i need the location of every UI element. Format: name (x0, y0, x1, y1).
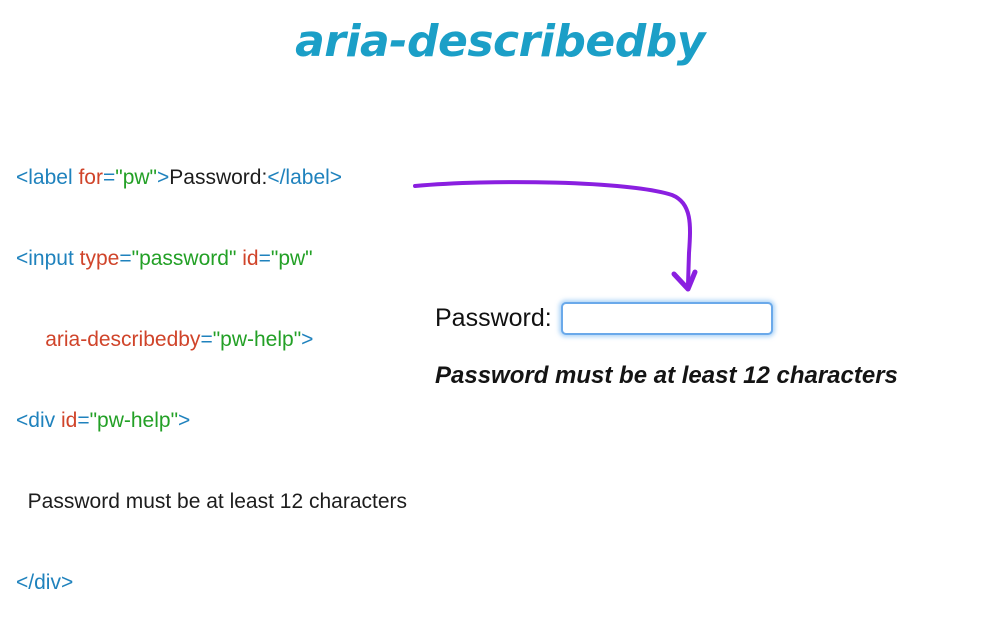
code-token-text: Password: (169, 166, 267, 189)
page-title: aria-describedby (0, 16, 1000, 67)
code-token-tag: = (103, 166, 115, 189)
demo-form: Password: Password must be at least 12 c… (435, 296, 955, 390)
password-input[interactable] (561, 302, 773, 335)
code-token-attr: id (242, 247, 258, 270)
code-token-text (16, 328, 45, 351)
password-help-text: Password must be at least 12 characters (435, 362, 955, 390)
code-token-attr: for (78, 166, 103, 189)
code-line-2: <input type="password" id="pw" (16, 245, 407, 272)
code-token-text: Password must be at least 12 characters (16, 490, 407, 513)
password-label: Password: (435, 304, 552, 333)
code-line-5: Password must be at least 12 characters (16, 488, 407, 515)
code-token-attr: type (80, 247, 120, 270)
code-token-val: "pw-help" (90, 409, 178, 432)
code-token-tag: > (301, 328, 313, 351)
code-snippet: <label for="pw">Password:</label> <input… (16, 110, 407, 623)
code-token-tag: </label> (267, 166, 342, 189)
code-token-val: "pw" (115, 166, 157, 189)
code-token-attr: id (61, 409, 77, 432)
code-line-3: aria-describedby="pw-help"> (16, 326, 407, 353)
code-line-4: <div id="pw-help"> (16, 407, 407, 434)
password-field-row: Password: (435, 296, 955, 340)
code-token-tag: <input (16, 247, 80, 270)
code-token-tag: </div> (16, 571, 73, 594)
code-line-6: </div> (16, 569, 407, 596)
code-token-tag: = (77, 409, 89, 432)
code-token-tag: > (178, 409, 190, 432)
code-token-tag: = (119, 247, 131, 270)
code-token-tag: > (157, 166, 169, 189)
code-token-val: "pw-help" (213, 328, 301, 351)
code-token-tag: = (200, 328, 212, 351)
code-token-tag: <label (16, 166, 78, 189)
code-token-val: "password" (132, 247, 237, 270)
curved-arrow-icon (400, 165, 720, 310)
code-token-val: "pw" (271, 247, 313, 270)
code-token-attr: aria-describedby (45, 328, 200, 351)
code-token-tag: = (259, 247, 271, 270)
code-line-1: <label for="pw">Password:</label> (16, 164, 407, 191)
code-token-tag: <div (16, 409, 61, 432)
